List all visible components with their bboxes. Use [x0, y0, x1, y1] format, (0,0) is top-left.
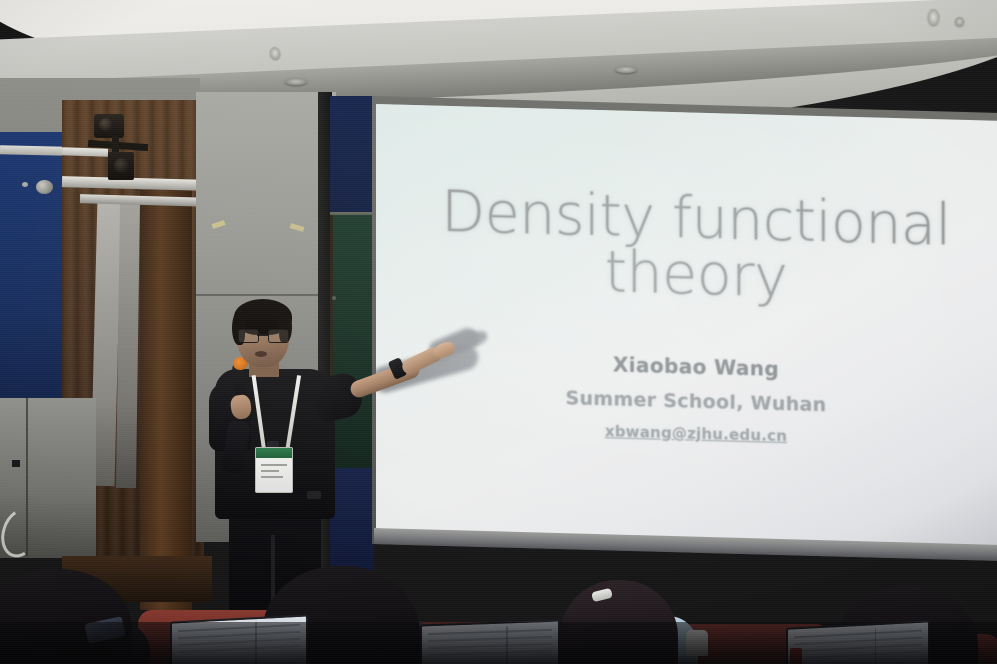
ceiling-downlight-icon [928, 9, 939, 25]
floor-shadow [0, 622, 997, 664]
name-badge [255, 447, 293, 493]
projector-lens-icon [99, 118, 113, 131]
wall-panel-navy-left [0, 132, 70, 432]
wall-knob-small-icon [22, 182, 28, 187]
eyeglass-lens-right [268, 329, 289, 343]
badge-text-line [261, 464, 287, 466]
ceiling-downlight-icon [285, 78, 307, 85]
speaker-cone-icon [114, 158, 129, 173]
eyeglasses-icon [237, 329, 289, 341]
wall-light-strip-2 [116, 198, 140, 488]
wall-trim-strip [0, 145, 66, 155]
slide-author: Xiaobao Wang [436, 348, 956, 386]
cabinet-latch-icon [12, 460, 20, 467]
presenter-mouth [255, 351, 267, 357]
presenter-pocket [307, 491, 321, 499]
projector-shelf [62, 147, 108, 157]
wall-knob-icon [36, 180, 53, 194]
wall-panel-navy-upper [330, 96, 374, 218]
eyeglass-lens-left [238, 329, 259, 343]
badge-text-line [261, 476, 283, 478]
slide-email-link[interactable]: xbwang@zjhu.edu.cn [436, 418, 956, 450]
projection-screen: Density functional theory Xiaobao Wang S… [376, 104, 997, 553]
ceiling-downlight-icon [615, 66, 637, 73]
eyeglass-bridge [257, 334, 268, 336]
badge-text-line [261, 470, 279, 472]
slide-venue: Summer School, Wuhan [436, 384, 956, 420]
ceiling-downlight-icon [955, 17, 964, 26]
audience-foreground [0, 514, 997, 664]
lecture-hall-photo: Density functional theory Xiaobao Wang S… [0, 0, 997, 664]
badge-header-band [256, 448, 292, 458]
slide-title: Density functional theory [436, 184, 956, 311]
